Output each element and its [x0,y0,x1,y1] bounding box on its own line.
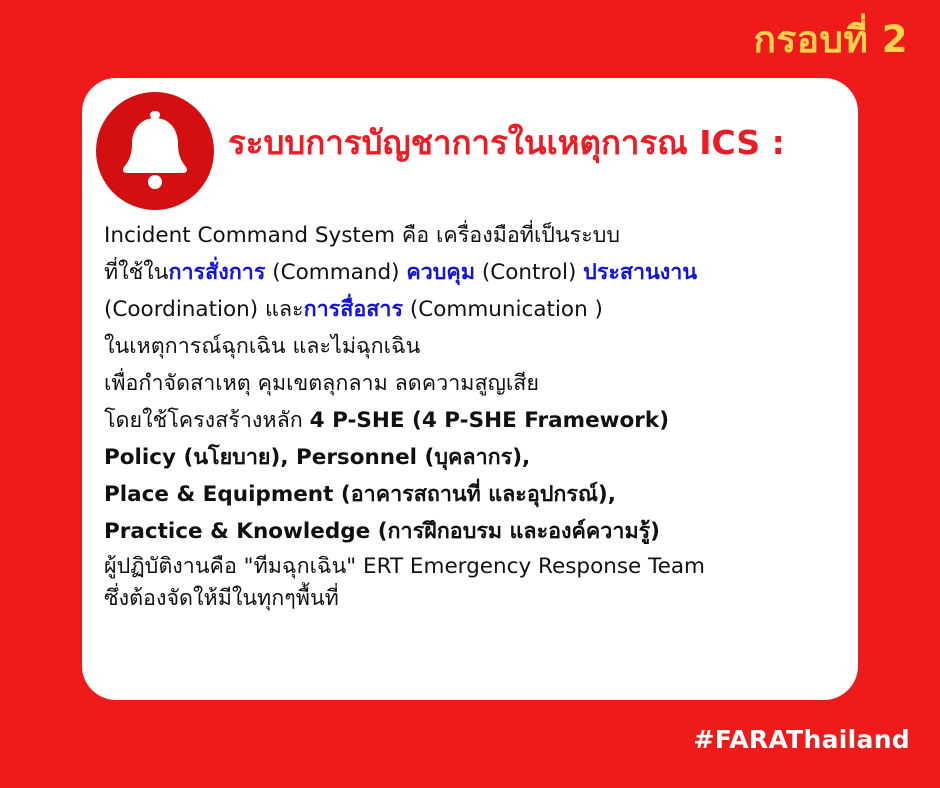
body-line: เพื่อกำจัดสาเหตุ คุมเขตลุกลาม ลดความสูญเ… [104,366,844,403]
bell-icon [96,92,214,210]
page-title: กรอบที่ 2 [754,20,909,61]
body-line: ผู้ปฏิบัติงานคือ "ทีมฉุกเฉิน" ERT Emerge… [104,551,844,583]
body-line: โดยใช้โครงสร้างหลัก 4 P-SHE (4 P-SHE Fra… [104,403,844,440]
card-body: Incident Command System คือ เครื่องมือที… [104,218,844,615]
body-line: ซึ่งต้องจัดให้มีในทุกๆพื้นที่ [104,583,844,615]
body-line: Place & Equipment (อาคารสถานที่ และอุปกร… [104,477,844,514]
body-text: Incident Command System คือ เครื่องมือที… [104,223,620,248]
content-card: ระบบการบัญชาการในเหตุการณ ICS : Incident… [82,78,858,700]
body-line: Incident Command System คือ เครื่องมือที… [104,218,844,255]
body-text: ผู้ปฏิบัติงานคือ "ทีมฉุกเฉิน" ERT Emerge… [104,554,705,579]
poster-canvas: กรอบที่ 2 ระบบการบัญชาการในเหตุการณ ICS … [0,0,940,788]
body-line: Practice & Knowledge (การฝึกอบรม และองค์… [104,514,844,551]
card-title: ระบบการบัญชาการในเหตุการณ ICS : [228,122,840,163]
body-line: ในเหตุการณ์ฉุกเฉิน และไม่ฉุกเฉิน [104,329,844,366]
highlight-term: ควบคุม [406,260,475,285]
highlight-term: การสั่งการ [168,260,265,285]
emphasis-text: Practice & Knowledge (การฝึกอบรม และองค์… [104,519,660,544]
emphasis-text: 4 P-SHE (4 P-SHE Framework) [310,408,669,433]
body-line: (Coordination) และการสื่อสาร (Communicat… [104,292,844,329]
body-text: เพื่อกำจัดสาเหตุ คุมเขตลุกลาม ลดความสูญเ… [104,371,539,396]
body-text: ซึ่งต้องจัดให้มีในทุกๆพื้นที่ [104,586,339,611]
highlight-term: ประสานงาน [583,260,697,285]
emphasis-text: Place & Equipment (อาคารสถานที่ และอุปกร… [104,482,616,507]
emphasis-text: Policy (นโยบาย), Personnel (บุคลากร), [104,445,530,470]
body-text: โดยใช้โครงสร้างหลัก [104,408,310,433]
body-text: ในเหตุการณ์ฉุกเฉิน และไม่ฉุกเฉิน [104,334,420,359]
body-text: (Command) [265,260,406,285]
body-text: (Control) [475,260,583,285]
body-text: (Communication ) [403,297,603,322]
body-text: (Coordination) และ [104,297,304,322]
body-line: ที่ใช้ในการสั่งการ (Command) ควบคุม (Con… [104,255,844,292]
body-line: Policy (นโยบาย), Personnel (บุคลากร), [104,440,844,477]
body-text: ที่ใช้ใน [104,260,168,285]
highlight-term: การสื่อสาร [304,297,403,322]
hashtag: #FARAThailand [694,725,911,754]
